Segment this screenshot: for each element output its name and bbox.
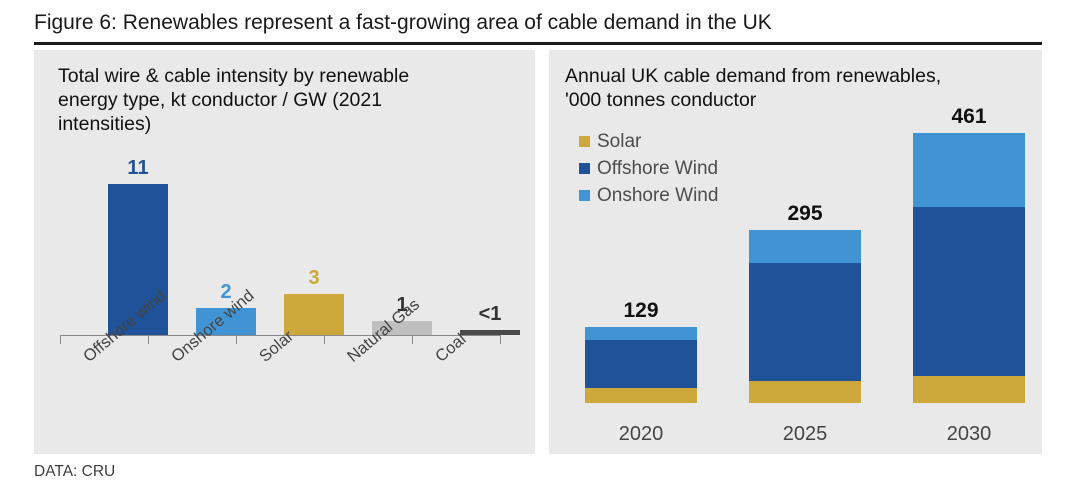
stacked-bar-total-label: 129: [585, 299, 697, 323]
bar-value-label: 11: [94, 157, 182, 180]
segment-offshore-wind: [913, 207, 1025, 376]
stacked-bar-total-label: 461: [913, 105, 1025, 129]
left-chart-title: Total wire & cable intensity by renewabl…: [58, 64, 518, 136]
axis-tick: [324, 335, 325, 344]
bar-group-solar: 3: [270, 170, 358, 335]
right-chart-panel: Annual UK cable demand from renewables, …: [549, 50, 1042, 454]
page-title: Figure 6: Renewables represent a fast-gr…: [34, 10, 1044, 36]
axis-tick: [412, 335, 413, 344]
axis-tick: [148, 335, 149, 344]
bar-solar: [284, 294, 344, 335]
stacked-bar-2025: [749, 230, 861, 403]
bar-group-coal: <1: [446, 170, 534, 335]
bar-value-label: 3: [270, 267, 358, 290]
header-divider: [34, 42, 1042, 45]
segment-solar: [749, 381, 861, 403]
axis-tick: [236, 335, 237, 344]
x-axis-label-2030: 2030: [913, 423, 1025, 446]
segment-offshore-wind: [749, 263, 861, 381]
intensity-bar-chart: 11231<1: [94, 170, 534, 335]
data-source-caption: DATA: CRU: [34, 463, 115, 481]
segment-onshore-wind: [913, 133, 1025, 207]
axis-tick: [500, 335, 501, 344]
stacked-bar-2030: [913, 133, 1025, 403]
x-axis-label-2025: 2025: [749, 423, 861, 446]
segment-solar: [585, 388, 697, 403]
segment-solar: [913, 376, 1025, 403]
demand-stacked-bar-chart: 129202029520254612030: [549, 50, 1042, 454]
segment-onshore-wind: [749, 230, 861, 263]
left-chart-panel: Total wire & cable intensity by renewabl…: [34, 50, 535, 454]
figure-header: Figure 6: Renewables represent a fast-gr…: [34, 10, 1044, 36]
bar-value-label: <1: [446, 303, 534, 326]
stacked-bar-2020: [585, 327, 697, 403]
stacked-bar-total-label: 295: [749, 202, 861, 226]
axis-tick: [60, 335, 61, 344]
segment-offshore-wind: [585, 340, 697, 387]
segment-onshore-wind: [585, 327, 697, 340]
x-axis-label-2020: 2020: [585, 423, 697, 446]
